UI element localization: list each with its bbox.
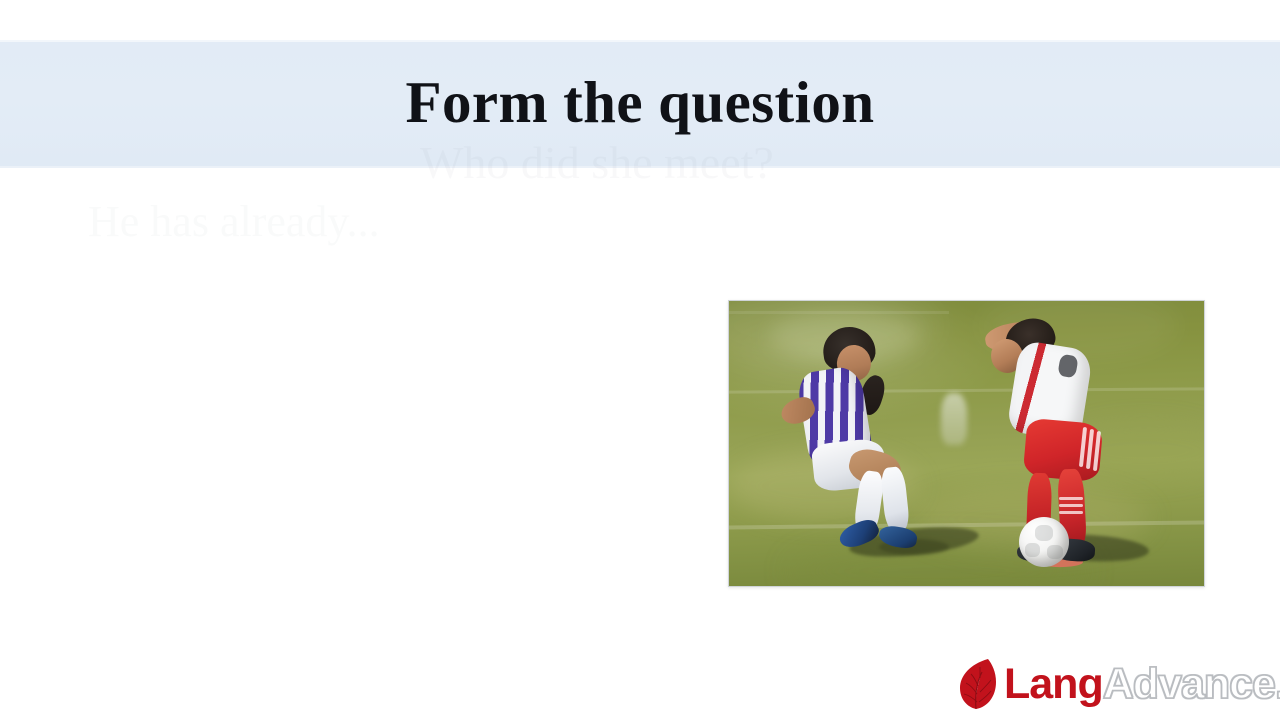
ghost-body-text-1: He has already...	[88, 196, 380, 247]
soccer-photo	[728, 300, 1205, 587]
player-purple-sock	[880, 466, 911, 532]
ball-panel	[1047, 545, 1063, 559]
ball-panel	[1035, 525, 1053, 541]
leaf-icon	[958, 658, 998, 710]
field-line	[729, 311, 949, 314]
soccer-photo-image	[729, 301, 1204, 586]
slide-title: Form the question	[406, 73, 875, 132]
logo-advance-text: Advance.com	[1103, 660, 1280, 708]
ghost-title-text: Who did she meet?	[420, 136, 774, 189]
logo-wordmark: LangAdvance.com academy	[1004, 663, 1280, 706]
field-line	[729, 521, 1204, 530]
player-purple-boot	[836, 516, 881, 552]
langadvance-logo[interactable]: LangAdvance.com academy	[958, 655, 1268, 713]
slide-title-band: Who did she meet? Form the question	[0, 40, 1280, 168]
sock-band	[1059, 504, 1083, 507]
sock-band	[1059, 497, 1083, 500]
ball-panel	[1025, 543, 1040, 557]
sock-band	[1059, 511, 1083, 514]
player-purple-boot	[878, 524, 919, 550]
soccer-ball	[1019, 517, 1069, 567]
logo-lang-text: Lang	[1004, 660, 1103, 708]
presentation-slide: He has already... Who did she meet? Form…	[0, 0, 1280, 720]
background-figure	[941, 393, 967, 445]
